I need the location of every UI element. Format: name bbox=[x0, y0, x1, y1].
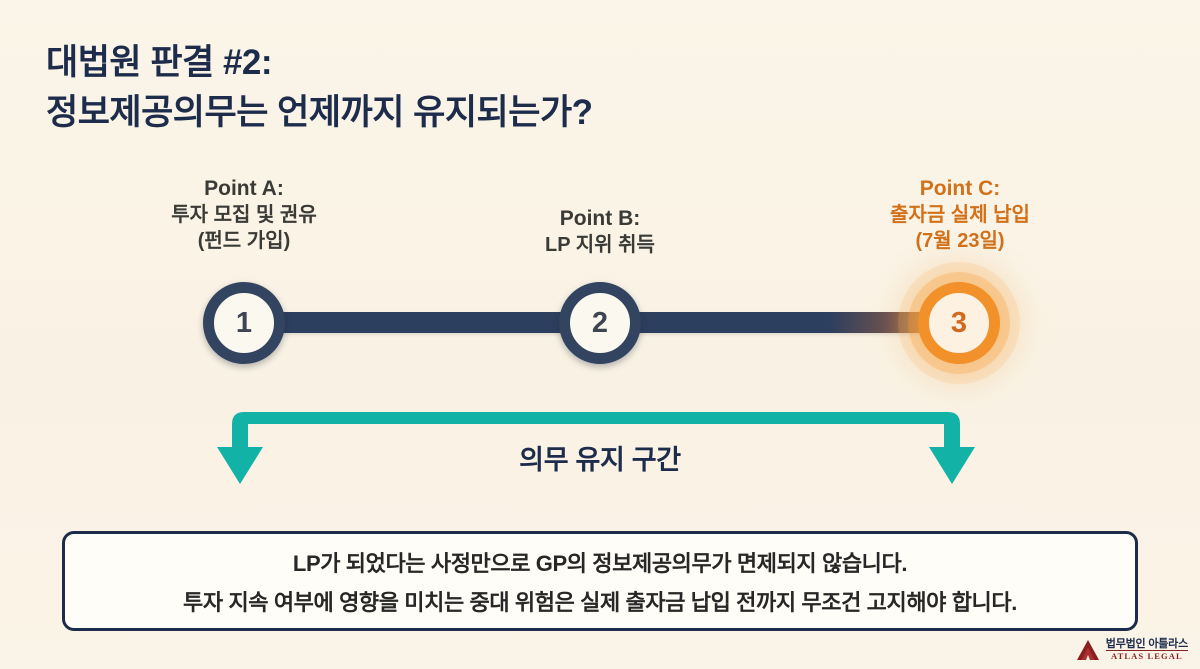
caption-head: Point C: bbox=[838, 175, 1082, 202]
timeline-caption-point-a: Point A: 투자 모집 및 권유 (펀드 가입) bbox=[124, 175, 364, 254]
timeline: Point A: 투자 모집 및 권유 (펀드 가입) Point B: LP … bbox=[0, 160, 1200, 400]
caption-sub-line-1: 투자 모집 및 권유 bbox=[124, 202, 364, 228]
conclusion-callout: LP가 되었다는 사정만으로 GP의 정보제공의무가 면제되지 않습니다. 투자… bbox=[62, 531, 1138, 631]
bracket-label: 의무 유지 구간 bbox=[0, 438, 1200, 477]
caption-sub-line-1: 출자금 실제 납입 bbox=[838, 202, 1082, 228]
timeline-caption-point-c: Point C: 출자금 실제 납입 (7월 23일) bbox=[838, 175, 1082, 254]
callout-line-1: LP가 되었다는 사정만으로 GP의 정보제공의무가 면제되지 않습니다. bbox=[293, 546, 907, 578]
timeline-node-number: 2 bbox=[592, 309, 608, 338]
timeline-node-number: 3 bbox=[951, 309, 967, 338]
callout-line-2: 투자 지속 여부에 영향을 미치는 중대 위험은 실제 출자금 납입 전까지 무… bbox=[183, 585, 1017, 617]
caption-head: Point A: bbox=[124, 175, 364, 202]
caption-sub-line-1: LP 지위 취득 bbox=[480, 232, 720, 258]
timeline-node-3[interactable]: 3 bbox=[918, 282, 1000, 364]
page-title: 대법원 판결 #2: 정보제공의무는 언제까지 유지되는가? bbox=[46, 38, 846, 137]
brand-name-korean: 법무법인 아틀라스 bbox=[1106, 638, 1188, 650]
caption-sub-line-2: (펀드 가입) bbox=[124, 228, 364, 254]
title-line-1: 대법원 판결 #2: bbox=[46, 38, 846, 88]
timeline-node-2[interactable]: 2 bbox=[559, 282, 641, 364]
timeline-node-1[interactable]: 1 bbox=[203, 282, 285, 364]
brand-logo: 법무법인 아틀라스 ATLAS LEGAL bbox=[1075, 637, 1188, 663]
slide-root: 대법원 판결 #2: 정보제공의무는 언제까지 유지되는가? Point A: … bbox=[0, 0, 1200, 669]
brand-name-english: ATLAS LEGAL bbox=[1106, 650, 1188, 662]
atlas-mountain-icon bbox=[1075, 637, 1101, 663]
timeline-node-number: 1 bbox=[236, 309, 252, 338]
title-line-2: 정보제공의무는 언제까지 유지되는가? bbox=[46, 88, 846, 138]
brand-logo-text: 법무법인 아틀라스 ATLAS LEGAL bbox=[1106, 638, 1188, 662]
caption-sub-line-2: (7월 23일) bbox=[838, 228, 1082, 254]
caption-head: Point B: bbox=[480, 205, 720, 232]
timeline-caption-point-b: Point B: LP 지위 취득 bbox=[480, 205, 720, 258]
